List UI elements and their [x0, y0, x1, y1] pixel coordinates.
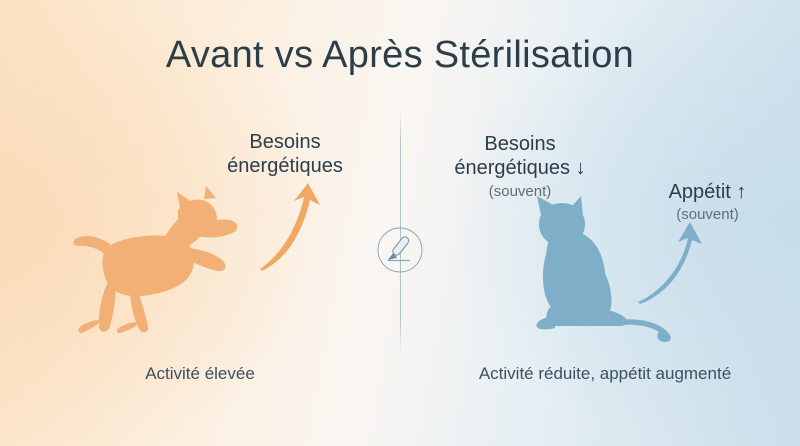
right-appetite-label-text: Appétit ↑ [620, 180, 795, 204]
right-energy-label-line2: énergétiques ↓ [420, 156, 620, 180]
right-energy-label: Besoins énergétiques ↓ (souvent) [420, 132, 620, 201]
arrow-up-curved-icon [258, 183, 328, 276]
leaping-cat-icon [72, 186, 262, 339]
scalpel-icon [377, 227, 423, 273]
arrow-up-curved-icon [638, 222, 704, 309]
left-energy-label-line2: énergétiques [180, 154, 390, 178]
right-caption: Activité réduite, appétit augmenté [420, 364, 790, 384]
page-title: Avant vs Après Stérilisation [0, 34, 800, 77]
right-appetite-label: Appétit ↑ (souvent) [620, 180, 795, 225]
left-energy-label: Besoins énergétiques [180, 130, 390, 179]
right-energy-note: (souvent) [420, 183, 620, 201]
right-energy-label-line1: Besoins [420, 132, 620, 156]
infographic-canvas: Avant vs Après Stérilisation [0, 0, 800, 446]
left-energy-label-line1: Besoins [180, 130, 390, 154]
right-appetite-note: (souvent) [620, 206, 795, 224]
left-caption: Activité élevée [60, 364, 340, 384]
